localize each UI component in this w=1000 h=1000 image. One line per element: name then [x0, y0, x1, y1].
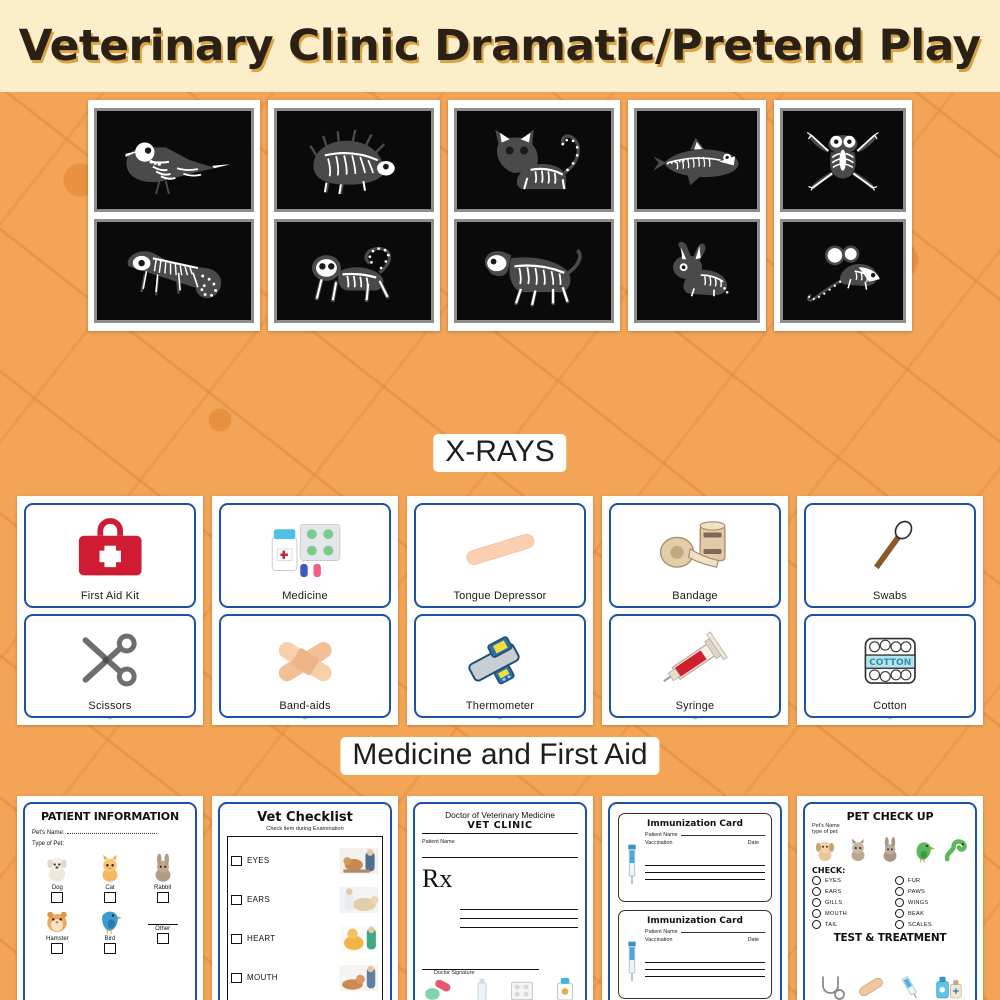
pet-option-checkbox[interactable]	[104, 943, 116, 954]
syringe-icon	[895, 972, 925, 1000]
pet-option-cat[interactable]: Cat	[85, 854, 136, 903]
medicine-card-label: Cotton	[873, 700, 907, 713]
pet-check-up-check-label: CHECK:	[812, 866, 968, 875]
check-option-beak[interactable]: BEAK	[895, 909, 968, 918]
immunization-col-date: Date	[748, 937, 759, 943]
check-radio[interactable]	[895, 909, 904, 918]
pet-option-label: Bird	[105, 936, 116, 942]
pet-name-label: Pet's Name:	[32, 830, 65, 836]
check-option-label: SCALES	[908, 922, 932, 928]
checklist-item-mouth[interactable]: MOUTH	[231, 965, 379, 991]
check-column-right: FUR PAWS WINGS BEAK SCALES	[895, 876, 968, 929]
pet-option-bird[interactable]: Bird	[85, 905, 136, 954]
cotton-icon: COTTON	[809, 620, 971, 701]
check-option-label: TAIL	[825, 922, 838, 928]
vet-exam-photo	[339, 926, 379, 952]
immunization-patient-name-label: Patient Name	[645, 832, 678, 838]
xray-card-monkey[interactable]: MONKEY X-RAY	[274, 219, 434, 323]
check-option-label: PAWS	[908, 889, 925, 895]
pet-option-checkbox[interactable]	[157, 892, 169, 903]
prescription-lines[interactable]	[456, 868, 578, 969]
pet-option-label: Hamster	[46, 936, 69, 942]
pet-option-hamster[interactable]: Hamster	[32, 905, 83, 954]
pet-check-up-type-label: type of pet:	[812, 829, 968, 835]
prescription-clinic-name: VET CLINIC	[422, 820, 578, 831]
immunization-input-line[interactable]	[645, 969, 765, 970]
pet-option-label: Dog	[52, 885, 63, 891]
check-option-fur[interactable]: FUR	[895, 876, 968, 885]
medicine-card-syringe[interactable]: Syringe	[609, 614, 781, 719]
medicine-card-label: Tongue Depressor	[453, 590, 546, 603]
immunization-input-line[interactable]	[645, 962, 765, 963]
xray-sheet[interactable]: FROG X-RAY MOUSE X-RA	[774, 100, 912, 331]
tongue-depressor-icon	[419, 509, 581, 590]
medicine-card-tongue-depressor[interactable]: Tongue Depressor	[414, 503, 586, 608]
medicine-card-cotton[interactable]: COTTON Cotton	[804, 614, 976, 719]
medicine-card-label: Thermometer	[466, 700, 534, 713]
checklist-item-heart[interactable]: HEART	[231, 926, 379, 952]
snake-icon	[942, 837, 968, 863]
checklist-item-label: EYES	[247, 856, 334, 865]
pills-icon	[424, 980, 454, 1000]
xray-card-chameleon[interactable]: CHAMELEON X-RAY	[94, 219, 254, 323]
prescription-input-line[interactable]	[460, 918, 578, 919]
pet-option-label: Cat	[105, 885, 114, 891]
form-sheet-pet-check-up[interactable]: PET CHECK UP Pet's Name type of pet: CHE…	[797, 796, 983, 1000]
pet-option-checkbox[interactable]	[51, 892, 63, 903]
form-sheet-patient-information[interactable]: PATIENT INFORMATION Pet's Name: Type of …	[17, 796, 203, 1000]
patients-section: PATIENT INFORMATION Pet's Name: Type of …	[0, 796, 1000, 1000]
bird-xray-icon	[106, 120, 242, 200]
immunization-input-line[interactable]	[645, 879, 765, 880]
medicine-sheet[interactable]: Bandage Syringe	[602, 496, 788, 725]
xray-sheet[interactable]: BIRD X-RAY CHAMELEON X-RAY	[88, 100, 260, 331]
medicine-card-first-aid-kit[interactable]: First Aid Kit	[24, 503, 196, 608]
rabbit-icon	[148, 854, 178, 884]
check-option-label: WINGS	[908, 900, 928, 906]
immunization-card[interactable]: Immunization Card Patient Name Vaccinati…	[618, 910, 772, 999]
medicine-bottle-icon	[554, 976, 576, 1000]
cat-xray-icon	[466, 120, 602, 200]
check-radio[interactable]	[895, 887, 904, 896]
check-option-paws[interactable]: PAWS	[895, 887, 968, 896]
check-radio[interactable]	[812, 898, 821, 907]
fish-xray-icon	[644, 120, 750, 200]
immunization-patient-name-input[interactable]	[681, 932, 765, 933]
medicine-card-label: Scissors	[88, 700, 131, 713]
immunization-patient-name-input[interactable]	[681, 835, 765, 836]
test-and-treatment-title: TEST & TREATMENT	[812, 932, 968, 944]
form-sheet-immunization[interactable]: Immunization Card Patient Name Vaccinati…	[602, 796, 788, 1000]
vet-exam-photo	[339, 848, 379, 874]
check-option-tail[interactable]: TAIL	[812, 920, 885, 929]
pet-option-rabbit[interactable]: Rabbit	[137, 854, 188, 903]
stethoscope-icon	[817, 972, 847, 1000]
check-radio[interactable]	[812, 887, 821, 896]
vet-checklist-subtitle: Check item during Examination	[227, 826, 383, 832]
check-radio[interactable]	[812, 920, 821, 929]
check-radio[interactable]	[812, 876, 821, 885]
immunization-input-line[interactable]	[645, 976, 765, 977]
medicine-section: First Aid Kit Scissors Medicine Band	[0, 496, 1000, 725]
syringe-icon	[614, 620, 776, 701]
medicine-card-thermometer[interactable]: Thermometer	[414, 614, 586, 719]
rx-symbol: Rx	[422, 868, 452, 969]
band-aids-icon	[224, 620, 386, 701]
page-title: Veterinary Clinic Dramatic/Pretend Play	[19, 21, 981, 71]
syringe-icon	[625, 832, 641, 896]
check-radio[interactable]	[895, 898, 904, 907]
medicine-card-band-aids[interactable]: Band-aids	[219, 614, 391, 719]
medicine-sheet[interactable]: First Aid Kit Scissors	[17, 496, 203, 725]
svg-text:COTTON: COTTON	[869, 658, 911, 668]
xray-card-rabbit[interactable]: RABBIT X-RAY	[634, 219, 760, 323]
immunization-title: Immunization Card	[625, 916, 765, 926]
rabbit-xray-icon	[644, 231, 750, 311]
pet-illustration-row	[812, 837, 968, 863]
checklist-checkbox[interactable]	[231, 973, 242, 983]
prescription-input-line[interactable]	[460, 909, 578, 910]
immunization-card[interactable]: Immunization Card Patient Name Vaccinati…	[618, 813, 772, 902]
form-sheet-prescription[interactable]: Doctor of Veterinary Medicine VET CLINIC…	[407, 796, 593, 1000]
medicine-card-bandage[interactable]: Bandage	[609, 503, 781, 608]
dog-icon	[42, 854, 72, 884]
check-radio[interactable]	[895, 920, 904, 929]
check-radio[interactable]	[812, 909, 821, 918]
medicine-sheet[interactable]: Tongue Depressor Thermometer	[407, 496, 593, 725]
rabbit-icon	[877, 837, 903, 863]
xray-card-mouse[interactable]: MOUSE X-RAY	[780, 219, 906, 323]
checklist-item-label: MOUTH	[247, 973, 334, 982]
check-column-left: EYES EARS GILLS MOUTH TAIL	[812, 876, 885, 929]
type-of-pet-label-row: Type of Pet:	[32, 841, 188, 847]
checklist-checkbox[interactable]	[231, 895, 242, 905]
prescription-patient-name-input[interactable]	[422, 857, 578, 858]
checklist-checkbox[interactable]	[231, 934, 242, 944]
checklist-item-label: EARS	[247, 895, 334, 904]
thermometer-icon	[419, 620, 581, 701]
dog-xray-icon	[466, 231, 602, 311]
xray-section: BIRD X-RAY CHAMELEON X-RAY	[0, 100, 1000, 331]
medicine-card-label: Syringe	[676, 700, 715, 713]
other-input-line[interactable]	[148, 905, 178, 925]
blister-pack-icon	[510, 980, 534, 1000]
divider	[422, 833, 578, 834]
vet-checklist-title: Vet Checklist	[227, 810, 383, 825]
checklist-checkbox[interactable]	[231, 856, 242, 866]
xray-card-dog[interactable]: DOG X-RAY	[454, 219, 614, 323]
medicine-card-scissors[interactable]: Scissors	[24, 614, 196, 719]
pet-name-field[interactable]: Pet's Name:	[32, 830, 188, 836]
pet-check-up-title: PET CHECK UP	[812, 810, 968, 823]
cat-icon	[95, 854, 125, 884]
pet-check-up-columns: EYES EARS GILLS MOUTH TAIL FUR PAWS WING…	[812, 876, 968, 929]
check-option-wings[interactable]: WINGS	[895, 898, 968, 907]
prescription-patient-name-label: Patient Name	[422, 839, 578, 845]
pet-option-label: Rabbit	[154, 885, 171, 891]
check-option-gills[interactable]: GILLS	[812, 898, 885, 907]
pet-option-checkbox[interactable]	[51, 943, 63, 954]
parrot-icon	[910, 837, 936, 863]
immunization-input-line[interactable]	[645, 865, 765, 866]
check-option-ears[interactable]: EARS	[812, 887, 885, 896]
medicine-card-label: Medicine	[282, 590, 328, 603]
frog-xray-icon	[790, 120, 896, 200]
section-banner-medicine: Medicine and First Aid	[340, 737, 659, 775]
medicine-sheet[interactable]: Swabs COTTON Cotton	[797, 496, 983, 725]
page-header: Veterinary Clinic Dramatic/Pretend Play	[0, 0, 1000, 92]
type-of-pet-label: Type of Pet:	[32, 841, 64, 847]
checklist-item-ears[interactable]: EARS	[231, 887, 379, 913]
section-banner-xrays: X-RAYS	[433, 434, 566, 472]
check-option-label: EYES	[825, 878, 841, 884]
xray-card-fish[interactable]: FISH X-RAY	[634, 108, 760, 212]
ointment-tube-icon	[474, 978, 490, 1000]
patient-information-title: PATIENT INFORMATION	[32, 810, 188, 823]
pet-option-label: Other	[155, 926, 170, 932]
cat-icon	[845, 837, 871, 863]
medicine-card-label: Band-aids	[279, 700, 330, 713]
pet-option-checkbox[interactable]	[104, 892, 116, 903]
bird-icon	[95, 905, 125, 935]
pet-name-input-line[interactable]	[67, 833, 157, 834]
medicine-bottles-icon	[934, 972, 964, 1000]
xray-sheet[interactable]: FISH X-RAY RABBIT X-RAY	[628, 100, 766, 331]
xray-card-frog[interactable]: FROG X-RAY	[780, 108, 906, 212]
check-option-label: FUR	[908, 878, 920, 884]
vet-exam-photo	[339, 887, 379, 913]
scissors-icon	[29, 620, 191, 701]
medicine-sheet[interactable]: Medicine Band-aids	[212, 496, 398, 725]
chameleon-xray-icon	[106, 231, 242, 311]
immunization-col-vaccination: Vaccination	[645, 840, 672, 846]
checklist-item-label: HEART	[247, 934, 334, 943]
treatment-tools-row	[812, 944, 968, 1000]
hamster-icon	[42, 905, 72, 935]
check-option-eyes[interactable]: EYES	[812, 876, 885, 885]
monkey-xray-icon	[286, 231, 422, 311]
syringe-icon	[625, 929, 641, 993]
immunization-patient-name-label: Patient Name	[645, 929, 678, 935]
vet-exam-photo	[339, 965, 379, 991]
pet-option-other[interactable]: Other	[137, 905, 188, 954]
check-option-scales[interactable]: SCALES	[895, 920, 968, 929]
medicine-card-label: Swabs	[873, 590, 907, 603]
form-sheet-vet-checklist[interactable]: Vet Checklist Check item during Examinat…	[212, 796, 398, 1000]
immunization-col-vaccination: Vaccination	[645, 937, 672, 943]
prescription-heading: Doctor of Veterinary Medicine	[422, 810, 578, 820]
check-radio[interactable]	[895, 876, 904, 885]
immunization-title: Immunization Card	[625, 819, 765, 829]
xray-sheet[interactable]: HEDGEHOG X-RAY MONKEY X-RAY	[268, 100, 440, 331]
immunization-col-date: Date	[748, 840, 759, 846]
medicine-card-medicine[interactable]: Medicine	[219, 503, 391, 608]
first-aid-kit-icon	[29, 509, 191, 590]
check-option-label: MOUTH	[825, 911, 847, 917]
check-option-label: GILLS	[825, 900, 842, 906]
bandage-icon	[614, 509, 776, 590]
hedgehog-xray-icon	[286, 120, 422, 200]
vet-checklist-box: EYES EARS HEART MOUT	[227, 836, 383, 1000]
xray-card-bird[interactable]: BIRD X-RAY	[94, 108, 254, 212]
checklist-item-eyes[interactable]: EYES	[231, 848, 379, 874]
medicine-card-swabs[interactable]: Swabs	[804, 503, 976, 608]
dog-icon	[812, 837, 838, 863]
check-option-label: EARS	[825, 889, 841, 895]
immunization-input-line[interactable]	[645, 872, 765, 873]
medicine-icon	[224, 509, 386, 590]
xray-sheet[interactable]: CAT X-RAY DOG X-RAY	[448, 100, 620, 331]
check-option-mouth[interactable]: MOUTH	[812, 909, 885, 918]
medicine-card-label: Bandage	[672, 590, 717, 603]
pet-option-checkbox[interactable]	[157, 933, 169, 944]
prescription-input-line[interactable]	[460, 927, 578, 928]
swab-icon	[809, 509, 971, 590]
xray-card-cat[interactable]: CAT X-RAY	[454, 108, 614, 212]
pet-type-grid: Dog Cat Rabbit Hamst	[32, 854, 188, 954]
medicine-card-label: First Aid Kit	[81, 590, 139, 603]
xray-card-hedgehog[interactable]: HEDGEHOG X-RAY	[274, 108, 434, 212]
mouse-xray-icon	[790, 231, 896, 311]
pet-option-dog[interactable]: Dog	[32, 854, 83, 903]
check-option-label: BEAK	[908, 911, 924, 917]
bandage-icon	[856, 972, 886, 1000]
